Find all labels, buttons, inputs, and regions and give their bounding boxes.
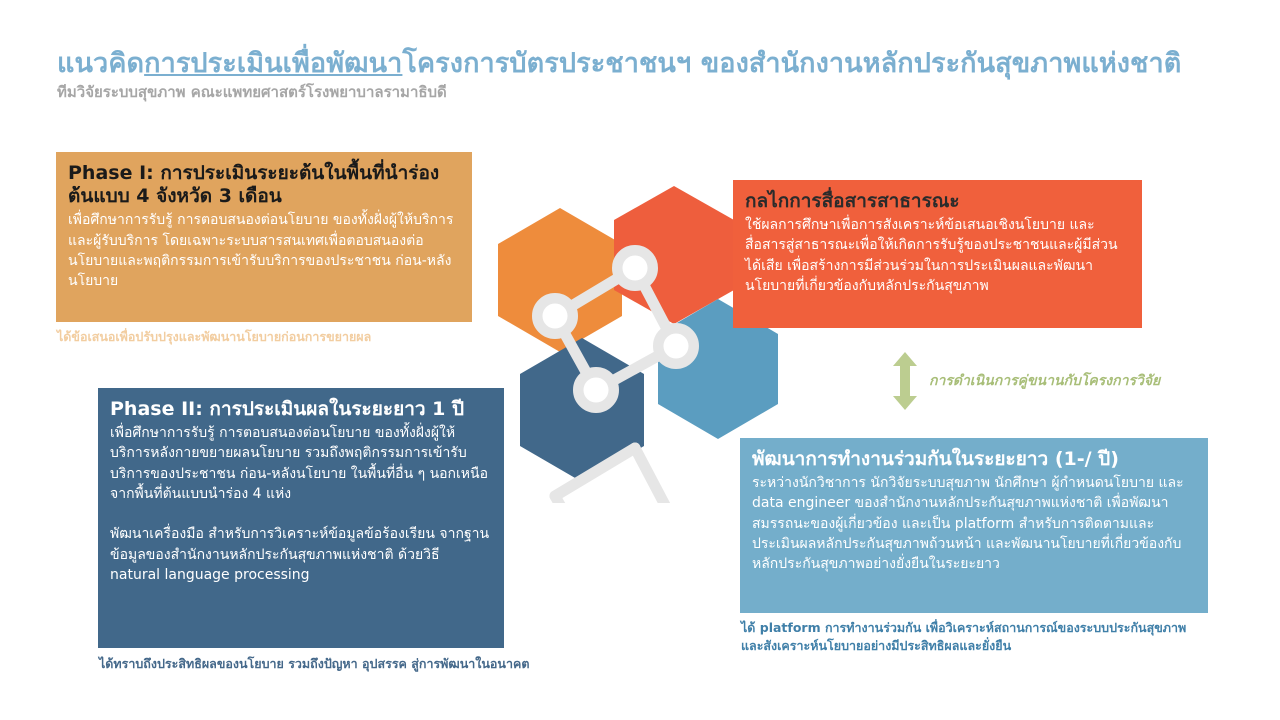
- node-top: [616, 249, 654, 287]
- parallel-work-note-text: การดำเนินการคู่ขนานกับโครงการวิจัย: [929, 370, 1160, 392]
- card-phase-2-body-part-1: เพื่อศึกษาการรับรู้ การตอบสนองต่อนโยบาย …: [110, 423, 492, 504]
- card-collaboration-title: พัฒนาการทำงานร่วมกันในระยะยาว (1-/ ปี): [752, 448, 1196, 471]
- slide-canvas: แนวคิดการประเมินเพื่อพัฒนาโครงการบัตรประ…: [0, 0, 1280, 720]
- parallel-work-annotation: การดำเนินการคู่ขนานกับโครงการวิจัย: [892, 352, 1160, 410]
- card-phase-2: Phase II: การประเมินผลในระยะยาว 1 ปี เพื…: [98, 388, 504, 648]
- card-phase-1-body: เพื่อศึกษาการรับรู้ การตอบสนองต่อนโยบาย …: [68, 210, 460, 291]
- card-collaboration-body: ระหว่างนักวิชาการ นักวิจัยระบบสุขภาพ นัก…: [752, 473, 1196, 574]
- caption-collaboration: ได้ platform การทำงานร่วมกัน เพื่อวิเครา…: [741, 619, 1211, 655]
- card-collaboration: พัฒนาการทำงานร่วมกันในระยะยาว (1-/ ปี) ร…: [740, 438, 1208, 613]
- node-bottom: [577, 371, 615, 409]
- page-title-prefix: แนวคิด: [57, 48, 144, 79]
- title-block: แนวคิดการประเมินเพื่อพัฒนาโครงการบัตรประ…: [57, 48, 1207, 101]
- card-public-communication-body: ใช้ผลการศึกษาเพื่อการสังเคราะห์ข้อเสนอเช…: [745, 215, 1130, 296]
- page-title-underlined: การประเมินเพื่อพัฒนา: [144, 48, 402, 79]
- page-subtitle: ทีมวิจัยระบบสุขภาพ คณะแพทยศาสตร์โรงพยาบา…: [57, 83, 1207, 101]
- page-title: แนวคิดการประเมินเพื่อพัฒนาโครงการบัตรประ…: [57, 48, 1207, 79]
- caption-phase-2: ได้ทราบถึงประสิทธิผลของนโยบาย รวมถึงปัญห…: [99, 655, 569, 673]
- card-public-communication: กลไกการสื่อสารสาธารณะ ใช้ผลการศึกษาเพื่อ…: [733, 180, 1142, 328]
- caption-phase-1: ได้ข้อเสนอเพื่อปรับปรุงและพัฒนานโยบายก่อ…: [57, 328, 497, 346]
- node-left: [536, 297, 574, 335]
- card-phase-2-title: Phase II: การประเมินผลในระยะยาว 1 ปี: [110, 398, 492, 421]
- card-phase-1-title: Phase I: การประเมินระยะต้นในพื้นที่นำร่อ…: [68, 162, 460, 208]
- page-title-suffix: โครงการบัตรประชาชนฯ ของสำนักงานหลักประกั…: [402, 48, 1181, 79]
- card-phase-2-body-part-2: พัฒนาเครื่องมือ สำหรับการวิเคราะห์ข้อมูล…: [110, 524, 492, 585]
- hexagon-dark-blue: [520, 338, 644, 482]
- card-phase-1: Phase I: การประเมินระยะต้นในพื้นที่นำร่อ…: [56, 152, 472, 322]
- double-arrow-up-down-icon: [892, 352, 918, 410]
- card-public-communication-title: กลไกการสื่อสารสาธารณะ: [745, 190, 1130, 213]
- node-right: [657, 327, 695, 365]
